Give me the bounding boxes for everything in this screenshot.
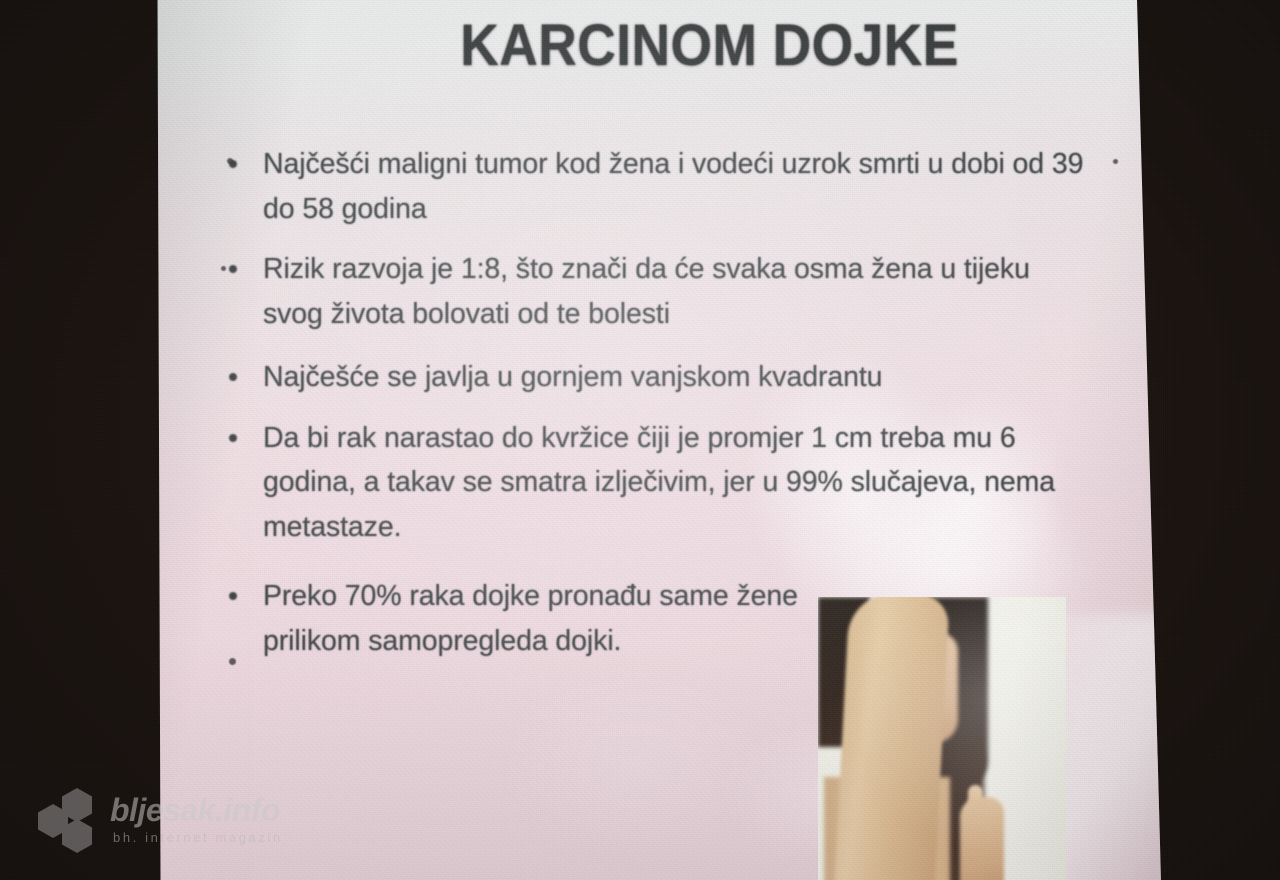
bullet-dot-icon — [229, 434, 237, 442]
projected-slide-photo: KARCINOM DOJKE Najčešći maligni tumor ko… — [0, 0, 1280, 880]
dust-speck — [229, 658, 236, 665]
slide-title: KARCINOM DOJKE — [195, 12, 1121, 79]
bullet-text: Rizik razvoja je 1:8, što znači da će sv… — [263, 253, 1030, 330]
presentation-slide: KARCINOM DOJKE Najčešći maligni tumor ko… — [155, 0, 1161, 880]
dust-speck — [1113, 159, 1118, 164]
list-item: Rizik razvoja je 1:8, što znači da će sv… — [217, 247, 1083, 336]
bullet-text: Preko 70% raka dojke pronađu same žene p… — [263, 580, 798, 657]
dust-speck — [227, 158, 233, 164]
list-item: Najčešći maligni tumor kod žena i vodeći… — [217, 142, 1103, 231]
list-item: Najčešće se javlja u gornjem vanjskom kv… — [217, 355, 1023, 400]
dust-speck — [221, 266, 226, 271]
bullet-text: Najčešći maligni tumor kod žena i vodeći… — [263, 148, 1083, 225]
photo-highlight — [818, 597, 1066, 880]
list-item: Da bi rak narastao do kvržice čiji je pr… — [217, 416, 1093, 550]
bullet-dot-icon — [229, 592, 237, 600]
self-exam-photo — [818, 597, 1066, 880]
bullet-dot-icon — [229, 265, 237, 273]
list-item: Preko 70% raka dojke pronađu same žene p… — [217, 574, 823, 663]
bullet-text: Da bi rak narastao do kvržice čiji je pr… — [263, 422, 1055, 543]
bullet-text: Najčešće se javlja u gornjem vanjskom kv… — [263, 361, 882, 393]
bullet-dot-icon — [229, 373, 237, 381]
